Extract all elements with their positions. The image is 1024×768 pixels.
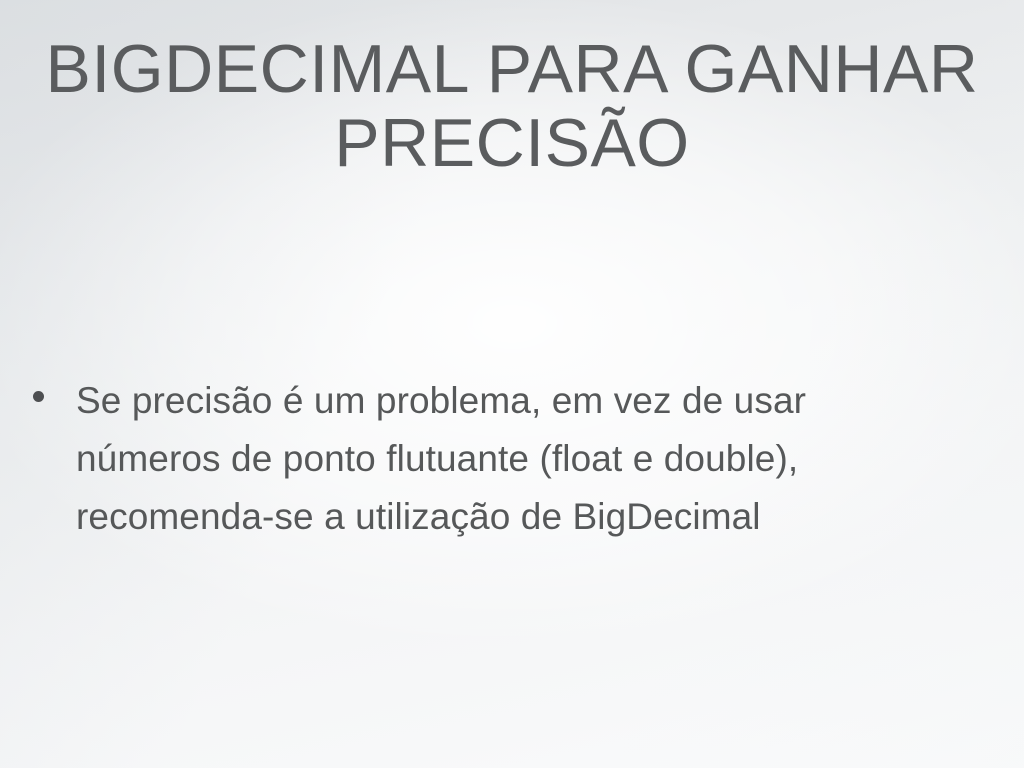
bullet-list-item: Se precisão é um problema, em vez de usa…	[28, 372, 968, 546]
bullet-text-line-1: Se precisão é um problema, em vez de usa…	[76, 372, 968, 430]
bullet-text-line-2: números de ponto flutuante (float e doub…	[76, 430, 968, 488]
bullet-text-line-3: recomenda-se a utilização de BigDecimal	[76, 488, 968, 546]
slide-body: Se precisão é um problema, em vez de usa…	[28, 372, 968, 546]
presentation-slide: BIGDECIMAL PARA GANHAR PRECISÃO Se preci…	[0, 0, 1024, 768]
slide-title-line-2: PRECISÃO	[0, 106, 1024, 180]
slide-title-line-1: BIGDECIMAL PARA GANHAR	[0, 32, 1024, 106]
bullet-dot-icon	[33, 391, 44, 402]
bullet-item-text: Se precisão é um problema, em vez de usa…	[76, 372, 968, 546]
slide-title: BIGDECIMAL PARA GANHAR PRECISÃO	[0, 32, 1024, 180]
